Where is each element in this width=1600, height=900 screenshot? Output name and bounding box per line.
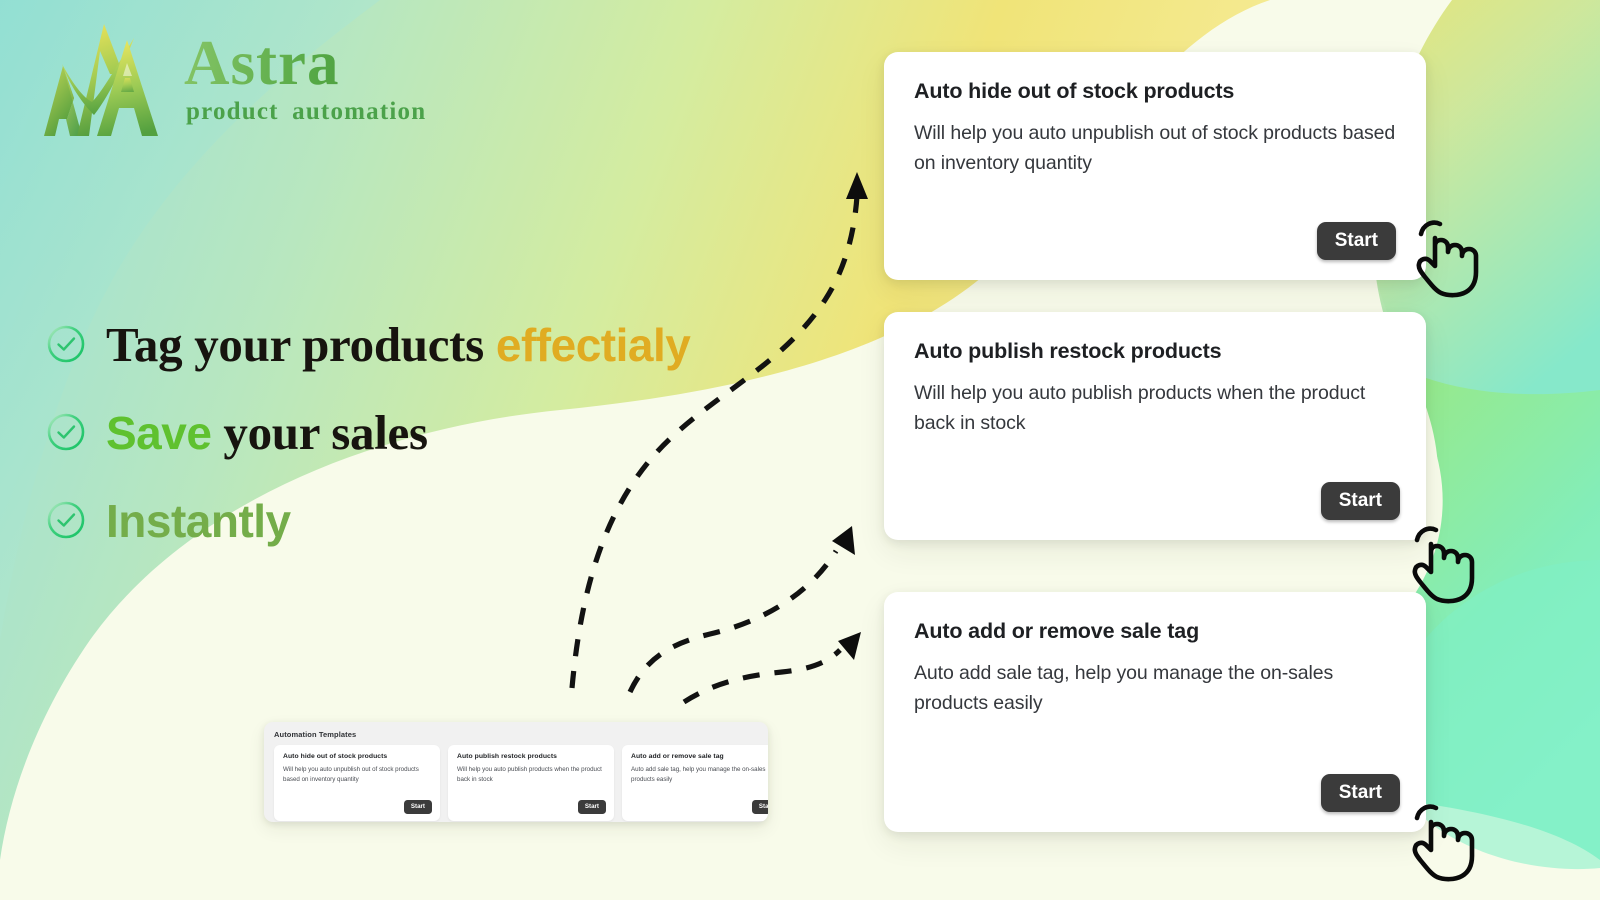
mini-card-title: Auto publish restock products	[457, 753, 605, 760]
mini-card-description: Will help you auto unpublish out of stoc…	[283, 765, 431, 784]
card-description: Auto add sale tag, help you manage the o…	[914, 658, 1396, 718]
card-description: Will help you auto unpublish out of stoc…	[914, 118, 1396, 178]
panel-title: Automation Templates	[274, 730, 768, 739]
card-description: Will help you auto publish products when…	[914, 378, 1396, 438]
card-title: Auto publish restock products	[914, 339, 1396, 364]
start-button[interactable]: Start	[1317, 222, 1396, 260]
feature-text-plain: Tag your products	[106, 317, 496, 372]
start-button[interactable]: Start	[1321, 774, 1400, 812]
mini-card-description: Auto add sale tag, help you manage the o…	[631, 765, 768, 784]
card-title: Auto hide out of stock products	[914, 79, 1396, 104]
feature-row: Instantly	[46, 476, 690, 564]
check-circle-icon	[46, 500, 86, 540]
check-circle-icon	[46, 412, 86, 452]
mini-card-row: Auto hide out of stock products Will hel…	[274, 745, 768, 821]
feature-row: Tag your products effectialy	[46, 300, 690, 388]
feature-text-accent: Save	[106, 407, 211, 459]
pointing-hand-click-cursor-icon	[1408, 522, 1482, 606]
feature-row: Save your sales	[46, 388, 690, 476]
promo-banner: Astra product automation Tag your produc…	[0, 0, 1600, 900]
mini-card-description: Will help you auto publish products when…	[457, 765, 605, 784]
mini-template-card[interactable]: Auto publish restock products Will help …	[448, 745, 614, 821]
feature-label: Save your sales	[106, 404, 428, 461]
mini-template-card[interactable]: Auto add or remove sale tag Auto add sal…	[622, 745, 768, 821]
feature-text-plain: your sales	[211, 405, 427, 460]
brand-name: Astra	[184, 34, 426, 94]
automation-template-card[interactable]: Auto publish restock products Will help …	[884, 312, 1426, 540]
start-button[interactable]: Start	[1321, 482, 1400, 520]
feature-label: Tag your products effectialy	[106, 316, 690, 373]
automation-templates-preview-panel[interactable]: Automation Templates Auto hide out of st…	[264, 722, 768, 822]
feature-label: Instantly	[106, 492, 291, 549]
automation-template-card[interactable]: Auto hide out of stock products Will hel…	[884, 52, 1426, 280]
card-title: Auto add or remove sale tag	[914, 619, 1396, 644]
start-button[interactable]: Start	[404, 800, 432, 814]
mini-card-title: Auto hide out of stock products	[283, 753, 431, 760]
check-circle-icon	[46, 324, 86, 364]
feature-text-accent: Instantly	[106, 495, 291, 547]
mini-template-card[interactable]: Auto hide out of stock products Will hel…	[274, 745, 440, 821]
start-button[interactable]: Start	[752, 800, 768, 814]
start-button[interactable]: Start	[578, 800, 606, 814]
brand-logo: Astra product automation	[22, 16, 426, 142]
feature-text-accent: effectialy	[496, 319, 690, 371]
brand-tagline: product automation	[186, 98, 426, 126]
mountain-a-checkmark-logo-icon	[22, 16, 162, 142]
automation-template-card[interactable]: Auto add or remove sale tag Auto add sal…	[884, 592, 1426, 832]
mini-card-title: Auto add or remove sale tag	[631, 753, 768, 760]
pointing-hand-click-cursor-icon	[1408, 800, 1482, 884]
feature-list: Tag your products effectialy Save your s…	[46, 300, 690, 564]
pointing-hand-click-cursor-icon	[1412, 216, 1486, 300]
